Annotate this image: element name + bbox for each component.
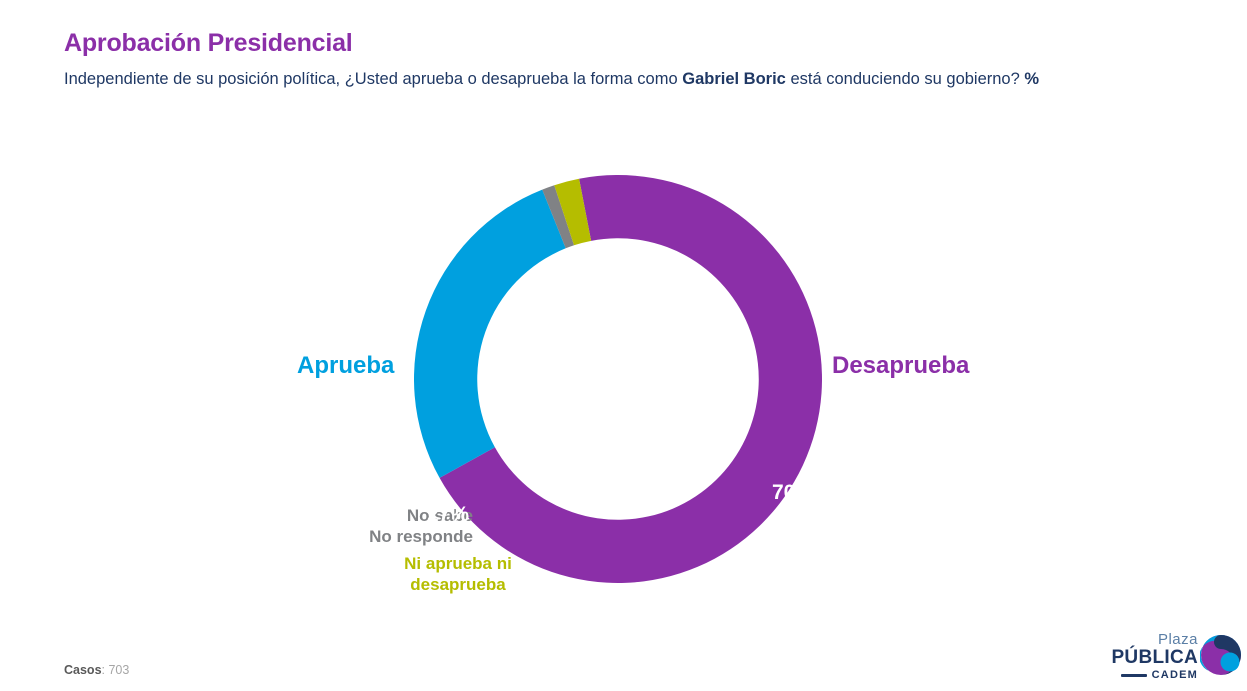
subtitle-text-part2: está conduciendo su gobierno?: [786, 70, 1025, 88]
donut-slice: [414, 190, 566, 478]
slice-value-desaprueba: 70%: [772, 481, 814, 505]
subtitle-text-part1: Independiente de su posición política, ¿…: [64, 70, 682, 88]
donut-chart-svg: [0, 140, 1247, 620]
cases-footnote: Casos: 703: [64, 663, 129, 677]
logo-publica-text: PÚBLICA: [1110, 648, 1198, 667]
logo-cadem-text: CADEM: [1152, 670, 1198, 681]
donut-chart: Aprueba Desaprueba No sabe No responde N…: [0, 140, 1247, 620]
slice-value-ni-aprueba: 2%: [518, 646, 545, 668]
slice-value-aprueba: 27%: [427, 503, 469, 527]
header: Aprobación Presidencial Independiente de…: [64, 30, 1184, 90]
subtitle-unit: %: [1024, 70, 1039, 88]
slice-label-aprueba: Aprueba: [297, 352, 394, 380]
cases-label: Casos: [64, 663, 102, 677]
page-title: Aprobación Presidencial: [64, 30, 1184, 58]
cases-value: 703: [108, 663, 129, 677]
logo-divider-rule: [1121, 674, 1147, 677]
chart-subtitle: Independiente de su posición política, ¿…: [64, 68, 1164, 90]
subtitle-highlight-name: Gabriel Boric: [682, 70, 786, 88]
slice-label-no-sabe-line2: No responde: [345, 526, 473, 547]
swirl-logo-icon: [1200, 634, 1242, 676]
slice-label-ni-line1: Ni aprueba ni: [393, 553, 523, 574]
slice-label-ni-line2: desaprueba: [393, 574, 523, 595]
logo-wordmark: Plaza PÚBLICA CADEM: [1110, 632, 1198, 681]
logo-cadem-row: CADEM: [1110, 670, 1198, 681]
plaza-publica-cadem-logo: Plaza PÚBLICA CADEM: [1110, 632, 1242, 684]
slice-label-ni-aprueba-ni-desaprueba: Ni aprueba ni desaprueba: [393, 553, 523, 596]
logo-plaza-text: Plaza: [1110, 632, 1198, 647]
slice-label-desaprueba: Desaprueba: [832, 352, 969, 380]
slice-value-no-sabe: 1%: [494, 632, 519, 652]
donut-slices: [414, 175, 822, 583]
